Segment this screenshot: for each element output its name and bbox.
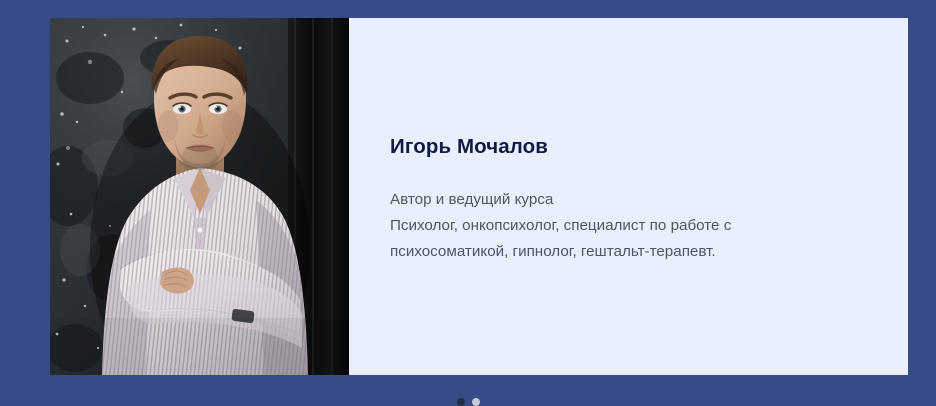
portrait-photo (50, 18, 349, 375)
author-bio: Автор и ведущий курса Психолог, онкопсих… (390, 187, 868, 265)
author-role: Автор и ведущий курса (390, 187, 868, 213)
author-name: Игорь Мочалов (390, 136, 868, 159)
slide-stage: Игорь Мочалов Автор и ведущий курса Псих… (0, 0, 936, 405)
author-bio-line-1: Психолог, онкопсихолог, специалист по ра… (390, 213, 868, 239)
author-bio-line-2: психосоматикой, гипнолог, гештальт-терап… (390, 239, 868, 265)
author-card: Игорь Мочалов Автор и ведущий курса Псих… (50, 18, 908, 375)
author-photo (50, 18, 349, 375)
author-info: Игорь Мочалов Автор и ведущий курса Псих… (349, 18, 908, 375)
